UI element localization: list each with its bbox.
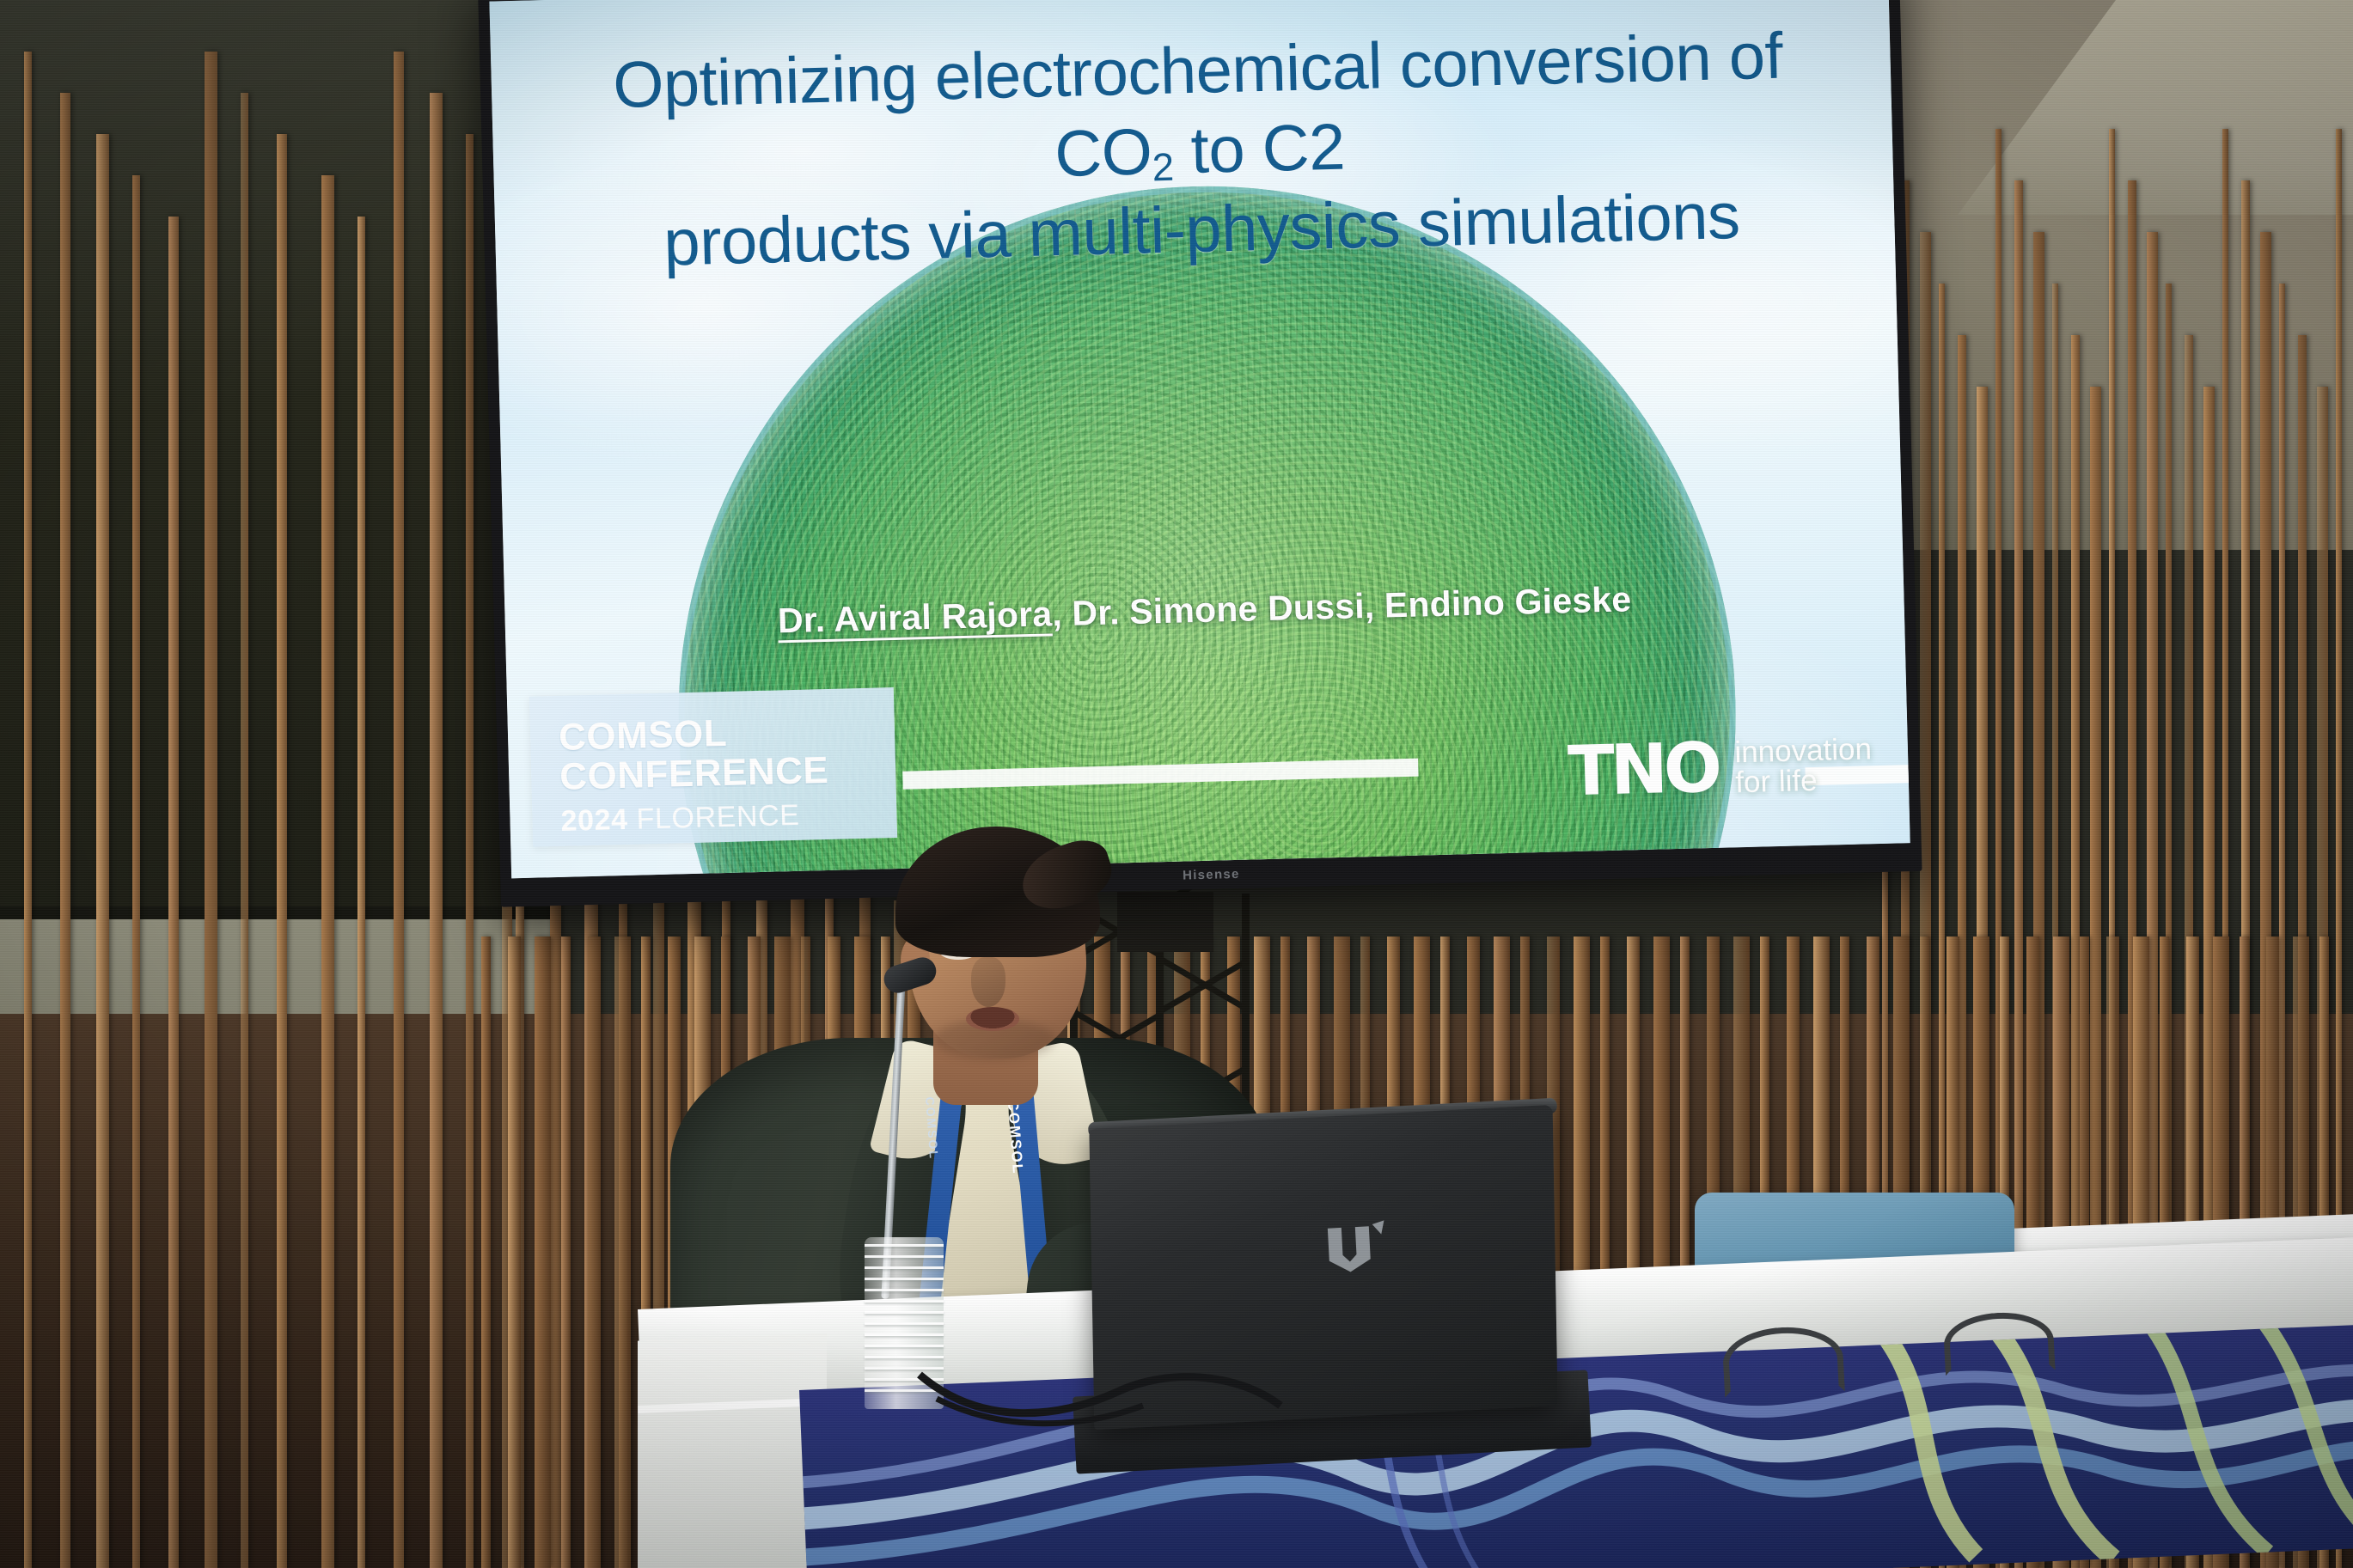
desk-cables bbox=[911, 1323, 1358, 1435]
wood-slat bbox=[60, 93, 70, 1568]
wood-slat bbox=[588, 937, 601, 1568]
comsol-conference-word: CONFERENCE bbox=[559, 749, 896, 797]
conference-room-photo: Optimizing electrochemical conversion of… bbox=[0, 0, 2353, 1568]
comsol-year: 2024 bbox=[560, 802, 628, 837]
co2-subscript: 2 bbox=[1152, 145, 1174, 190]
tno-tagline-line1: innovation bbox=[1734, 734, 1872, 767]
presenting-author-name: Dr. Aviral Rajora bbox=[777, 594, 1052, 640]
slide-title: Optimizing electrochemical conversion of… bbox=[553, 15, 1848, 287]
wood-slat bbox=[24, 52, 32, 1568]
wood-slat bbox=[614, 937, 631, 1568]
wood-slat bbox=[508, 937, 521, 1568]
wood-slat bbox=[561, 937, 571, 1568]
wood-slat bbox=[358, 217, 365, 1568]
tno-tagline-line2: for life bbox=[1735, 764, 1873, 797]
wood-slat bbox=[321, 175, 334, 1568]
tno-wordmark: TNO bbox=[1568, 739, 1719, 801]
cup-rim bbox=[865, 1311, 944, 1314]
presenter-nose bbox=[971, 957, 1005, 1007]
wood-slat bbox=[241, 93, 248, 1568]
wood-slat bbox=[394, 52, 404, 1568]
wood-slat bbox=[430, 93, 443, 1568]
wood-slat bbox=[168, 217, 179, 1568]
tno-tagline: innovation for life bbox=[1734, 734, 1873, 797]
wood-slat bbox=[96, 134, 109, 1568]
cup-rim bbox=[865, 1255, 944, 1258]
slide-screen: Optimizing electrochemical conversion of… bbox=[489, 0, 1910, 878]
slide-title-line1-tail: to C2 bbox=[1172, 110, 1346, 187]
laptop-brand-icon bbox=[1322, 1218, 1391, 1275]
presentation-display: Optimizing electrochemical conversion of… bbox=[478, 0, 1922, 907]
presenter-mouth bbox=[966, 1007, 1019, 1031]
wood-slat bbox=[132, 175, 140, 1568]
wood-slat bbox=[535, 937, 551, 1568]
wood-slat bbox=[277, 134, 287, 1568]
cup-rim bbox=[865, 1278, 944, 1280]
wood-slat bbox=[205, 52, 217, 1568]
cup-rim bbox=[865, 1289, 944, 1291]
wood-slat bbox=[550, 873, 561, 1568]
cup-rim bbox=[865, 1244, 944, 1247]
cup-rim bbox=[865, 1266, 944, 1269]
wood-slat bbox=[466, 134, 474, 1568]
desk-left-face bbox=[638, 1333, 827, 1568]
wood-slat bbox=[481, 937, 491, 1568]
cup-rim bbox=[865, 1300, 944, 1303]
comsol-conference-badge: COMSOL CONFERENCE 2024 FLORENCE bbox=[529, 687, 897, 847]
tno-logo: TNO innovation for life bbox=[1567, 734, 1873, 802]
